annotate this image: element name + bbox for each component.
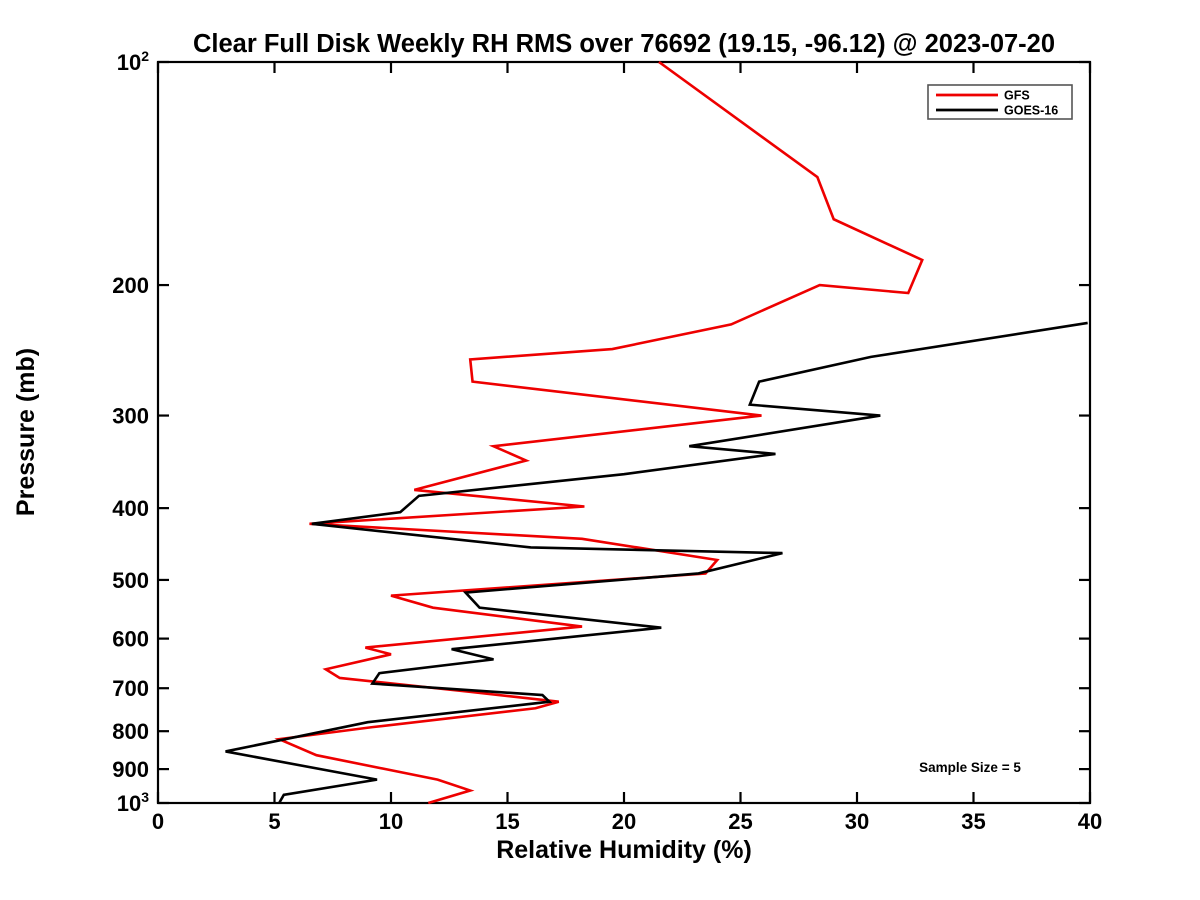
chart-figure: Clear Full Disk Weekly RH RMS over 76692…: [0, 0, 1200, 900]
x-tick-label: 0: [152, 809, 164, 834]
legend-label-gfs: GFS: [1004, 89, 1030, 103]
legend[interactable]: GFSGOES-16: [928, 85, 1072, 119]
x-tick-label: 20: [612, 809, 636, 834]
exponent: 2: [141, 48, 149, 64]
y-tick-label: 900: [112, 757, 149, 782]
y-tick-label: 600: [112, 627, 149, 652]
y-tick-label: 200: [112, 273, 149, 298]
relative-humidity-pressure-plot: Clear Full Disk Weekly RH RMS over 76692…: [0, 0, 1200, 900]
page-title: Clear Full Disk Weekly RH RMS over 76692…: [193, 30, 1055, 58]
x-tick-label: 30: [845, 809, 869, 834]
x-tick-label: 10: [379, 809, 403, 834]
y-tick-label: 700: [112, 676, 149, 701]
exponent: 3: [141, 789, 149, 805]
x-tick-label: 40: [1078, 809, 1102, 834]
x-tick-label: 25: [728, 809, 752, 834]
x-axis-label: Relative Humidity (%): [496, 836, 752, 864]
y-tick-label: 500: [112, 568, 149, 593]
x-tick-label: 35: [961, 809, 985, 834]
legend-label-goes-16: GOES-16: [1004, 104, 1058, 118]
y-tick-label: 300: [112, 404, 149, 429]
y-tick-label: 800: [112, 719, 149, 744]
x-tick-label: 15: [495, 809, 519, 834]
y-axis-label: Pressure (mb): [12, 348, 40, 516]
x-tick-label: 5: [268, 809, 280, 834]
y-tick-label: 400: [112, 496, 149, 521]
sample-size-annotation: Sample Size = 5: [919, 760, 1021, 775]
